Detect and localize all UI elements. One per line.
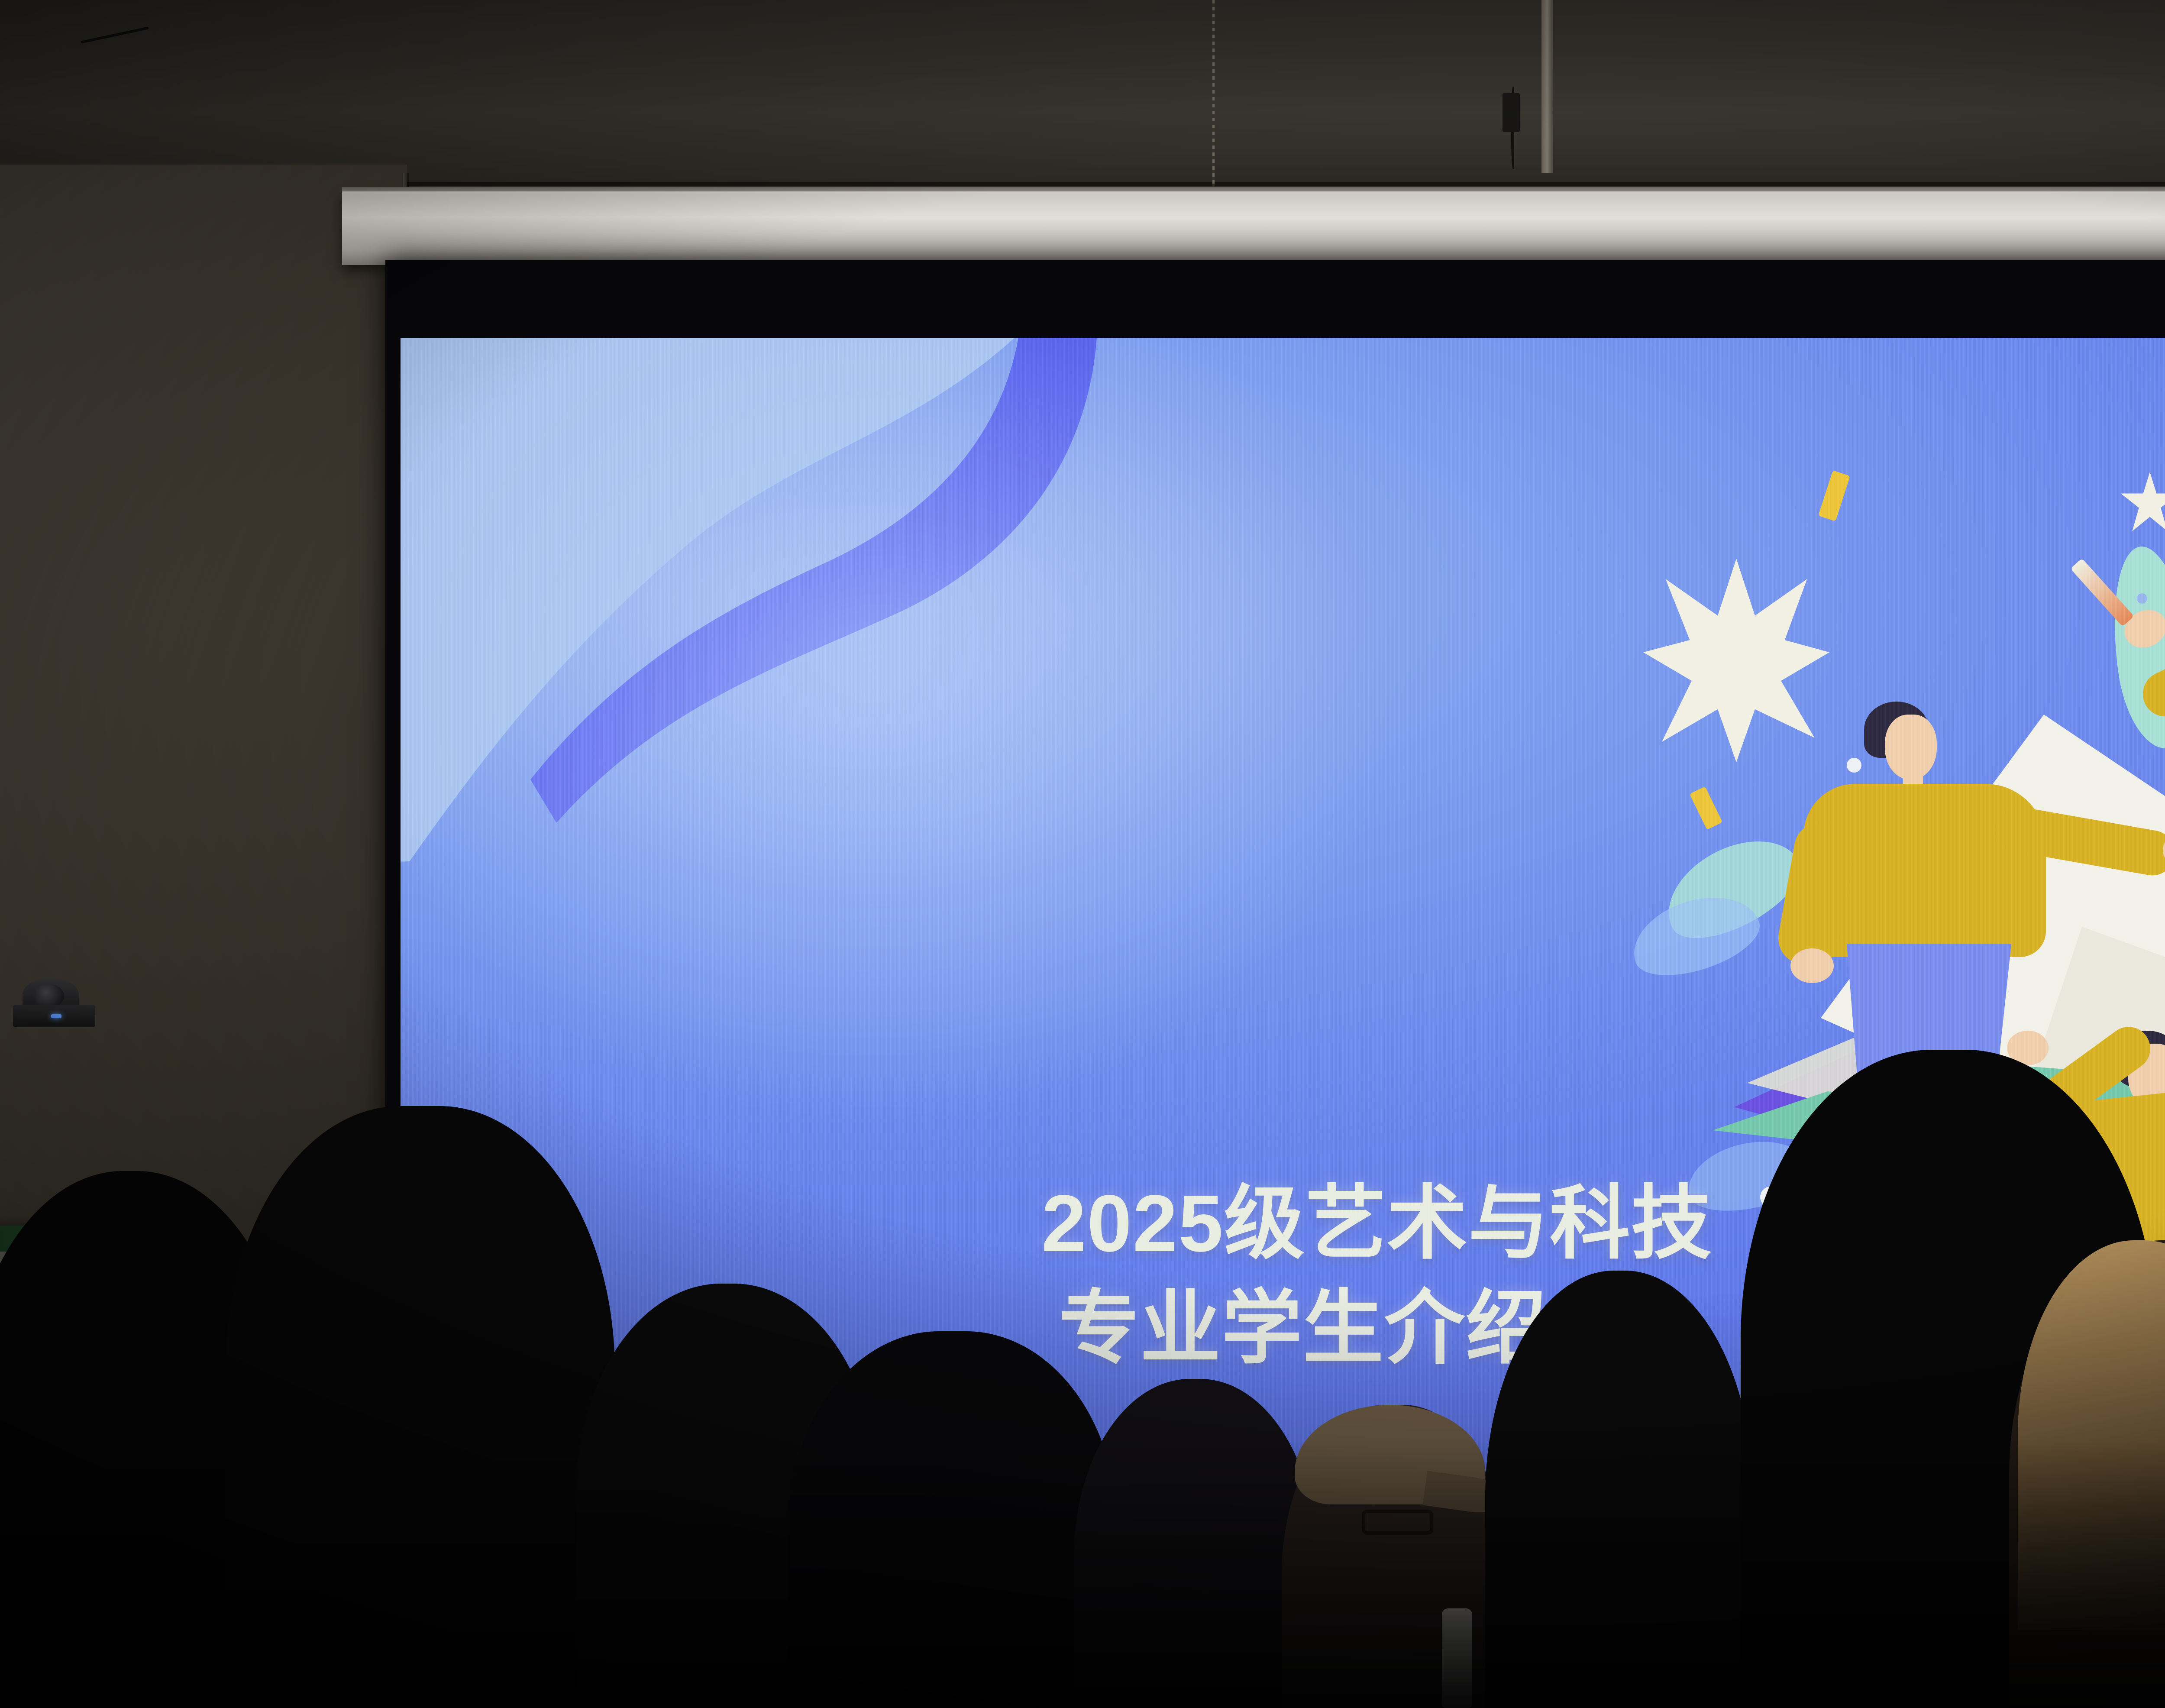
- ceiling: [0, 0, 2165, 186]
- wall-mounted-ptz-camera: [13, 974, 95, 1026]
- camera-status-led: [51, 1014, 61, 1018]
- electrical-conduit-icon: [1541, 0, 1553, 173]
- slide-title-line-1: 2025级艺术与科技: [1041, 1179, 1713, 1268]
- star-icon: [2120, 472, 2165, 537]
- slide-swoosh-light: [401, 338, 1033, 862]
- dot-icon: [1847, 758, 1861, 773]
- screenshot-root: 2025级艺术与科技 专业学生介绍会 校学生行为准则: [0, 0, 2165, 1708]
- person-hand-left: [1790, 948, 1834, 983]
- starburst-icon: [1643, 559, 1829, 762]
- confetti-icon: [1690, 786, 1722, 830]
- foreground-shadow: [0, 1440, 2165, 1708]
- dot-icon: [2137, 593, 2147, 604]
- confetti-icon: [1818, 470, 1850, 521]
- conduit-junction-box: [1503, 93, 1520, 132]
- projector-screen-valance: [342, 191, 2165, 265]
- leaf-icon: [2101, 541, 2165, 754]
- person-head: [1885, 715, 1937, 780]
